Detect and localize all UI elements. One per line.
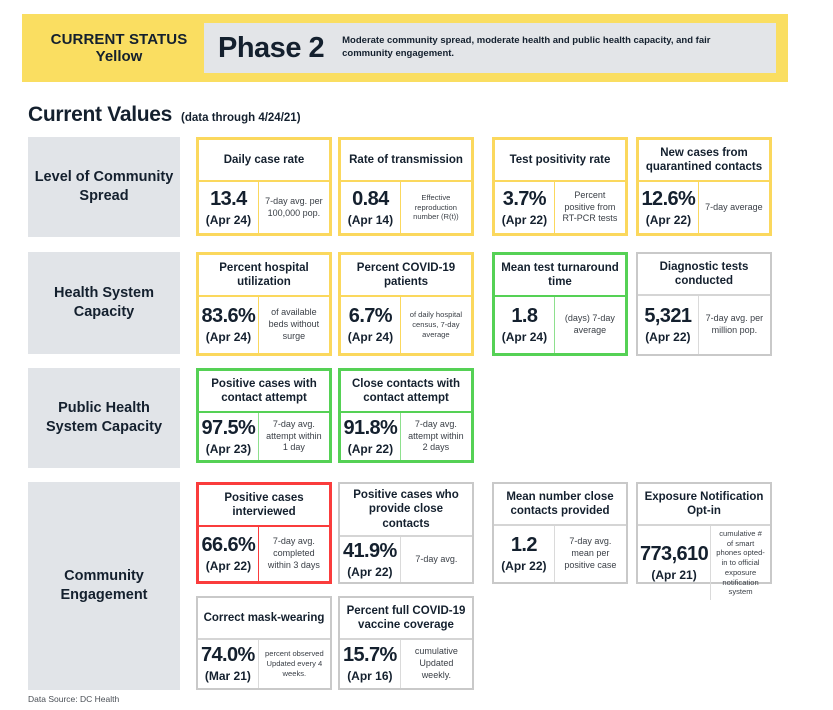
metric-body: 15.7%(Apr 16)cumulative Updated weekly. (340, 638, 472, 688)
metric-value-block: 3.7%(Apr 22) (495, 182, 555, 233)
metric-title: Mean number close contacts provided (494, 484, 626, 524)
metric-value: 5,321 (644, 306, 691, 327)
category-label-1: Health System Capacity (28, 252, 180, 354)
metric-date: (Apr 22) (348, 442, 393, 456)
metric-card[interactable]: Correct mask-wearing74.0%(Mar 21)percent… (196, 596, 332, 690)
metric-card[interactable]: Mean test turnaround time1.8(Apr 24)(day… (492, 252, 628, 356)
category-label-3: Community Engagement (28, 482, 180, 690)
metric-card[interactable]: Percent hospital utilization83.6%(Apr 24… (196, 252, 332, 356)
metric-card[interactable]: Positive cases interviewed66.6%(Apr 22)7… (196, 482, 332, 584)
metric-body: 773,610(Apr 21)cumulative # of smart pho… (638, 524, 770, 600)
metric-value-block: 66.6%(Apr 22) (199, 527, 259, 581)
metric-title: Daily case rate (199, 140, 329, 180)
metric-date: (Apr 22) (646, 213, 691, 227)
metric-value: 3.7% (503, 189, 546, 210)
metric-description: 7-day average (699, 182, 769, 233)
metric-title: Positive cases who provide close contact… (340, 484, 472, 535)
metric-card[interactable]: New cases from quarantined contacts12.6%… (636, 137, 772, 236)
metric-value: 41.9% (343, 541, 397, 562)
metric-title: Percent hospital utilization (199, 255, 329, 295)
category-label-text: Level of Community Spread (32, 168, 176, 206)
metric-value: 97.5% (202, 418, 256, 439)
metric-title: Exposure Notification Opt-in (638, 484, 770, 524)
metric-card[interactable]: Diagnostic tests conducted5,321(Apr 22)7… (636, 252, 772, 356)
metric-value: 1.8 (511, 306, 537, 327)
metric-description: Effective reproduction number (R(t)) (401, 182, 471, 233)
metric-body: 41.9%(Apr 22)7-day avg. (340, 535, 472, 582)
metric-value-block: 12.6%(Apr 22) (639, 182, 699, 233)
metric-card[interactable]: Exposure Notification Opt-in773,610(Apr … (636, 482, 772, 584)
metric-value: 83.6% (202, 306, 256, 327)
metric-date: (Apr 22) (502, 213, 547, 227)
metric-value-block: 1.8(Apr 24) (495, 297, 555, 353)
metric-card[interactable]: Positive cases with contact attempt97.5%… (196, 368, 332, 463)
metric-date: (Apr 22) (501, 559, 546, 573)
metric-body: 12.6%(Apr 22)7-day average (639, 180, 769, 233)
metric-value: 66.6% (202, 535, 256, 556)
metric-value: 773,610 (640, 544, 708, 565)
metric-value-block: 83.6%(Apr 24) (199, 297, 259, 353)
metric-card[interactable]: Mean number close contacts provided1.2(A… (492, 482, 628, 584)
metric-description: (days) 7-day average (555, 297, 625, 353)
metric-card[interactable]: Percent COVID-19 patients6.7%(Apr 24)of … (338, 252, 474, 356)
metric-body: 74.0%(Mar 21)percent observed Updated ev… (198, 638, 330, 688)
metric-title: New cases from quarantined contacts (639, 140, 769, 180)
metric-value-block: 97.5%(Apr 23) (199, 413, 259, 460)
metric-value-block: 5,321(Apr 22) (638, 296, 699, 354)
metric-card[interactable]: Rate of transmission0.84(Apr 14)Effectiv… (338, 137, 474, 236)
metric-description: of daily hospital census, 7-day average (401, 297, 471, 353)
metric-body: 83.6%(Apr 24)of available beds without s… (199, 295, 329, 353)
metric-body: 13.4(Apr 24)7-day avg. per 100,000 pop. (199, 180, 329, 233)
metric-value-block: 91.8%(Apr 22) (341, 413, 401, 460)
metric-date: (Apr 24) (206, 330, 251, 344)
metric-body: 5,321(Apr 22)7-day avg. per million pop. (638, 294, 770, 354)
category-label-0: Level of Community Spread (28, 137, 180, 237)
metric-value: 13.4 (210, 189, 247, 210)
metric-value-block: 13.4(Apr 24) (199, 182, 259, 233)
metric-value: 0.84 (352, 189, 389, 210)
metric-body: 1.2(Apr 22)7-day avg. mean per positive … (494, 524, 626, 582)
metric-date: (Mar 21) (205, 669, 251, 683)
metric-body: 6.7%(Apr 24)of daily hospital census, 7-… (341, 295, 471, 353)
metric-body: 0.84(Apr 14)Effective reproduction numbe… (341, 180, 471, 233)
metric-value: 12.6% (642, 189, 696, 210)
metric-body: 97.5%(Apr 23)7-day avg. attempt within 1… (199, 411, 329, 460)
metric-description: 7-day avg. completed within 3 days (259, 527, 329, 581)
metric-title: Mean test turnaround time (495, 255, 625, 295)
metric-date: (Apr 24) (348, 330, 393, 344)
metric-description: 7-day avg. mean per positive case (555, 526, 626, 582)
metric-date: (Apr 24) (206, 213, 251, 227)
metric-date: (Apr 16) (347, 669, 392, 683)
metric-date: (Apr 22) (645, 330, 690, 344)
metric-date: (Apr 23) (206, 442, 251, 456)
metric-date: (Apr 21) (651, 568, 696, 582)
metrics-grid: Level of Community SpreadHealth System C… (0, 0, 833, 710)
metric-value: 6.7% (349, 306, 392, 327)
metric-date: (Apr 24) (502, 330, 547, 344)
metric-date: (Apr 22) (206, 559, 251, 573)
metric-description: cumulative Updated weekly. (401, 640, 472, 688)
metric-date: (Apr 22) (347, 565, 392, 579)
metric-card[interactable]: Positive cases who provide close contact… (338, 482, 474, 584)
metric-value-block: 773,610(Apr 21) (638, 526, 711, 600)
metric-description: cumulative # of smart phones opted-in to… (711, 526, 770, 600)
data-source-label: Data Source: DC Health (28, 694, 119, 704)
metric-description: percent observed Updated every 4 weeks. (259, 640, 330, 688)
metric-card[interactable]: Percent full COVID-19 vaccine coverage15… (338, 596, 474, 690)
metric-title: Diagnostic tests conducted (638, 254, 770, 294)
metric-date: (Apr 14) (348, 213, 393, 227)
metric-value-block: 6.7%(Apr 24) (341, 297, 401, 353)
metric-description: 7-day avg. (401, 537, 472, 582)
metric-body: 1.8(Apr 24)(days) 7-day average (495, 295, 625, 353)
metric-title: Percent full COVID-19 vaccine coverage (340, 598, 472, 638)
category-label-text: Community Engagement (32, 567, 176, 605)
metric-description: 7-day avg. attempt within 1 day (259, 413, 329, 460)
metric-card[interactable]: Close contacts with contact attempt91.8%… (338, 368, 474, 463)
category-label-2: Public Health System Capacity (28, 368, 180, 468)
metric-value: 15.7% (343, 645, 397, 666)
metric-body: 91.8%(Apr 22)7-day avg. attempt within 2… (341, 411, 471, 460)
metric-title: Test positivity rate (495, 140, 625, 180)
category-label-text: Public Health System Capacity (32, 399, 176, 437)
metric-value-block: 41.9%(Apr 22) (340, 537, 401, 582)
metric-title: Correct mask-wearing (198, 598, 330, 638)
metric-description: Percent positive from RT-PCR tests (555, 182, 625, 233)
metric-body: 3.7%(Apr 22)Percent positive from RT-PCR… (495, 180, 625, 233)
metric-value-block: 15.7%(Apr 16) (340, 640, 401, 688)
metric-card[interactable]: Test positivity rate3.7%(Apr 22)Percent … (492, 137, 628, 236)
metric-description: 7-day avg. attempt within 2 days (401, 413, 471, 460)
metric-description: 7-day avg. per million pop. (699, 296, 770, 354)
metric-value: 91.8% (344, 418, 398, 439)
metric-title: Close contacts with contact attempt (341, 371, 471, 411)
metric-value: 1.2 (511, 535, 537, 556)
metric-value-block: 74.0%(Mar 21) (198, 640, 259, 688)
metric-title: Rate of transmission (341, 140, 471, 180)
metric-value-block: 1.2(Apr 22) (494, 526, 555, 582)
metric-title: Percent COVID-19 patients (341, 255, 471, 295)
metric-title: Positive cases with contact attempt (199, 371, 329, 411)
metric-value: 74.0% (201, 645, 255, 666)
metric-description: of available beds without surge (259, 297, 329, 353)
metric-description: 7-day avg. per 100,000 pop. (259, 182, 329, 233)
metric-title: Positive cases interviewed (199, 485, 329, 525)
metric-value-block: 0.84(Apr 14) (341, 182, 401, 233)
metric-body: 66.6%(Apr 22)7-day avg. completed within… (199, 525, 329, 581)
metric-card[interactable]: Daily case rate13.4(Apr 24)7-day avg. pe… (196, 137, 332, 236)
category-label-text: Health System Capacity (32, 284, 176, 322)
